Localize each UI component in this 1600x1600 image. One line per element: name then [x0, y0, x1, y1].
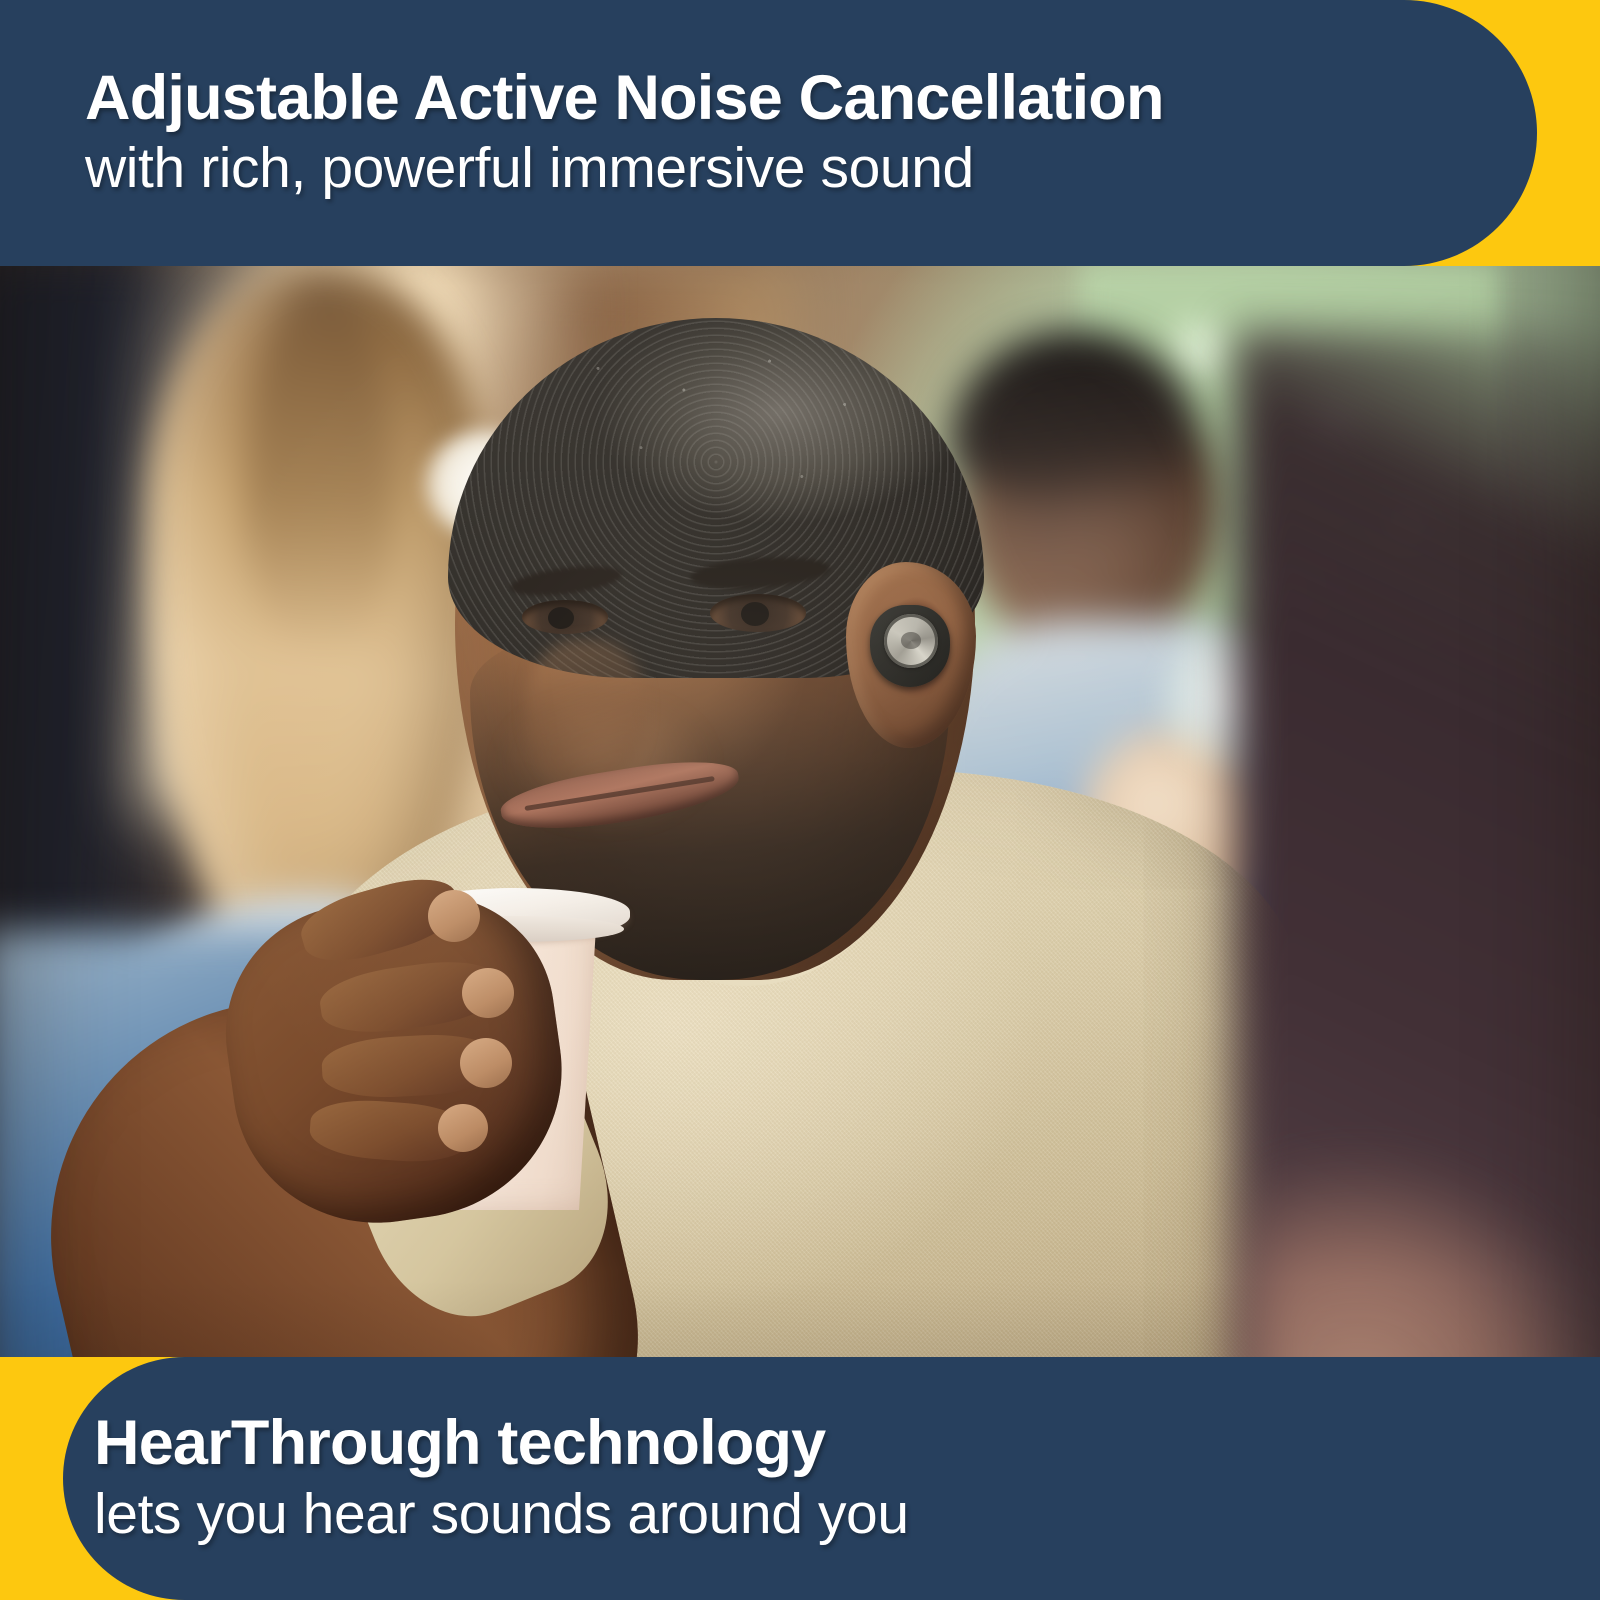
- subject-fingertip: [462, 968, 514, 1018]
- subject-fingertip: [460, 1038, 512, 1088]
- subject-fingertip: [438, 1104, 488, 1152]
- bottom-banner-text: HearThrough technology lets you hear sou…: [94, 1357, 1480, 1600]
- earbud-face-plate: [884, 614, 938, 668]
- top-banner: Adjustable Active Noise Cancellation wit…: [0, 0, 1600, 266]
- subject-eye: [710, 594, 806, 632]
- subject-eye: [522, 600, 608, 634]
- top-banner-subline: with rich, powerful immersive sound: [85, 137, 1480, 201]
- top-banner-headline: Adjustable Active Noise Cancellation: [85, 65, 1480, 132]
- subject-fingertip: [428, 890, 480, 942]
- bottom-banner: HearThrough technology lets you hear sou…: [0, 1357, 1600, 1600]
- bottom-banner-subline: lets you hear sounds around you: [94, 1483, 1480, 1547]
- product-feature-image: Adjustable Active Noise Cancellation wit…: [0, 0, 1600, 1600]
- bottom-banner-headline: HearThrough technology: [94, 1410, 1480, 1477]
- wireless-earbud: [870, 605, 950, 687]
- top-banner-text: Adjustable Active Noise Cancellation wit…: [85, 0, 1480, 266]
